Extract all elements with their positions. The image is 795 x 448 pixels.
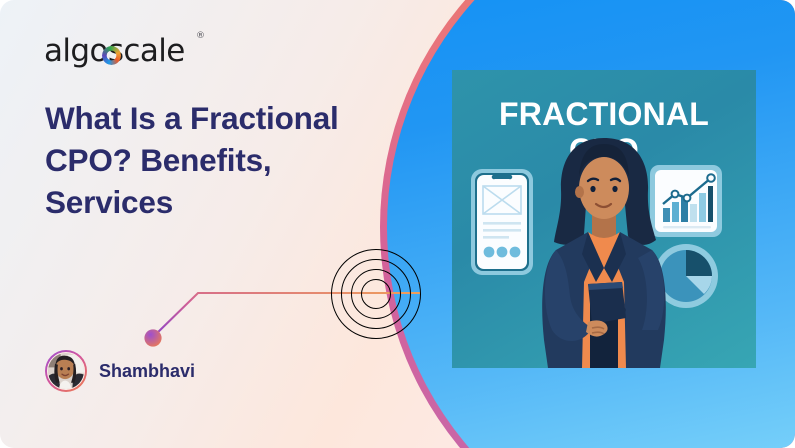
concentric-rings bbox=[330, 248, 422, 340]
illustration-title-line1: FRACTIONAL bbox=[452, 96, 756, 132]
page-title: What Is a Fractional CPO? Benefits, Serv… bbox=[45, 98, 390, 224]
logo-ring-icon bbox=[102, 46, 121, 65]
phone-wireframe-icon bbox=[470, 168, 534, 276]
avatar bbox=[45, 350, 87, 392]
author-name: Shambhavi bbox=[99, 361, 195, 382]
connector-dot bbox=[144, 329, 161, 346]
avatar-photo bbox=[48, 353, 84, 389]
blog-banner: algoscale ® What Is a Fractional CPO? Be… bbox=[0, 0, 795, 448]
illustration-card: FRACTIONAL CPO bbox=[452, 70, 756, 368]
businesswoman-illustration bbox=[526, 132, 682, 368]
registered-trademark-icon: ® bbox=[196, 31, 205, 41]
author-byline: Shambhavi bbox=[45, 350, 195, 392]
algoscale-logo[interactable]: algoscale ® bbox=[44, 33, 185, 69]
